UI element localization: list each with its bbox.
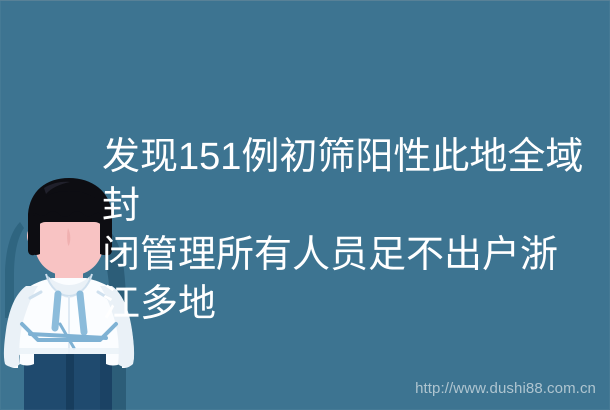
poster-canvas: 发现151例初筛阳性此地全域封 闭管理所有人员足不出户浙江多地 http://w… xyxy=(0,0,610,410)
source-url-watermark: http://www.dushi88.com.cn xyxy=(415,380,596,397)
headline-text: 发现151例初筛阳性此地全域封 闭管理所有人员足不出户浙江多地 xyxy=(102,133,594,329)
pants xyxy=(24,346,112,410)
